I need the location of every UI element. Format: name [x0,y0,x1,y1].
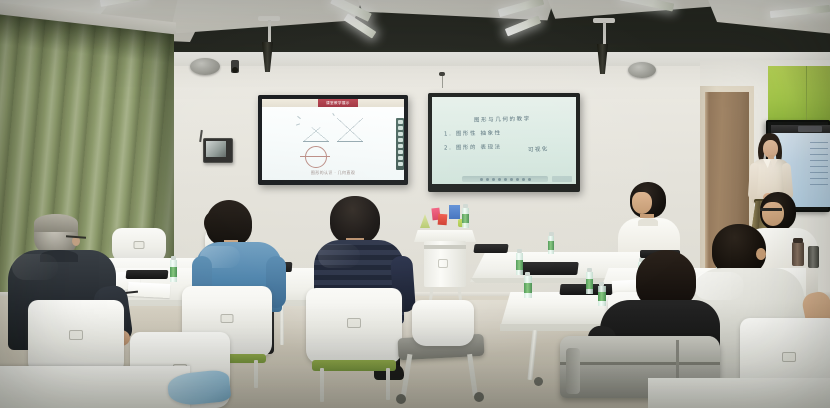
chair[interactable] [28,300,124,376]
whiteboard-tool-icon[interactable] [492,178,495,181]
whiteboard-status-badge [552,176,572,182]
gray-bag-flap [560,336,720,362]
table [648,378,830,408]
classroom-scene: 课堂教学展示 图形的认识 · 几何直观 图形与几何的教学 1. 图形性 抽象性 … [0,0,830,408]
whiteboard-heading: 图形与几何的教学 [474,114,531,123]
chair-seat[interactable] [312,360,396,371]
triangle-figure-base [337,141,363,142]
water-bottle [586,268,593,294]
hanging-microphone-wire [442,74,443,88]
acoustic-panel-shading [768,66,830,122]
whiteboard-side-note: 可视化 [528,144,549,153]
table [0,366,190,408]
water-bottle [598,282,606,306]
chair-logo-badge [134,241,145,249]
whiteboard-tool-icon[interactable] [516,178,519,181]
hanging-microphone-icon [439,72,445,76]
whiteboard-tool-icon[interactable] [522,178,525,181]
bottle-label [170,267,177,277]
bottle-label [598,292,606,301]
triangle-figure-icon [337,118,363,142]
caster-wheel [396,394,406,404]
water-bottle [524,272,532,298]
control-panel-screen[interactable] [206,141,226,157]
lectern-badge [438,259,448,268]
chair-leg [254,360,258,388]
circle-figure-icon [305,146,327,168]
bottle-label [516,260,523,270]
slide-banner: 课堂教学展示 [318,99,358,107]
wall-camera-icon [231,60,239,73]
chair-leg [320,368,324,402]
av-equipment [473,244,508,253]
whiteboard-ink-layer: 图形与几何的教学 1. 图形性 抽象性 2. 图形的 表现法 可视化 [432,97,576,184]
participant-head [330,196,380,244]
whiteboard-tool-icon[interactable] [498,178,501,181]
chair-logo-badge [782,352,796,362]
participant-shoulder-highlight [318,244,360,268]
ceiling-mount-rod [268,20,271,44]
whiteboard-line-1: 1. 图形性 抽象性 [444,128,502,137]
thermos-cup [792,242,804,266]
chair-leg [386,368,390,400]
chair-logo-badge [347,318,361,328]
side-monitor-content-lines [810,142,828,198]
whiteboard-tool-icon[interactable] [480,178,483,181]
bottle-label [548,241,554,249]
av-equipment [126,270,169,279]
slide-banner-text: 课堂教学展示 [326,100,350,106]
toolbar-button-icon[interactable] [398,120,403,124]
participant-shoulder-highlight [12,254,58,280]
chair[interactable] [412,300,474,346]
whiteboard-tool-icon[interactable] [528,178,531,181]
side-monitor-tab[interactable] [798,126,822,132]
water-bottle [516,249,523,275]
sticky-card [449,205,460,219]
participant-hair [34,214,78,232]
whiteboard-toolbar[interactable] [462,176,548,182]
water-bottle [170,256,177,282]
participant-face [762,202,784,226]
toolbar-button-icon[interactable] [398,126,403,130]
bottle-label [524,283,532,293]
participant-face [632,192,652,214]
glasses-icon [760,208,782,211]
ceiling-speaker-icon [190,58,220,75]
water-bottle [548,232,554,254]
whiteboard-line-2: 2. 图形的 表现法 [444,142,502,151]
lectern-shelf [424,245,466,249]
gray-bag-zipper [560,362,720,365]
chair-logo-badge [69,330,83,340]
caster-wheel [474,392,484,402]
thermos-lid [793,238,803,243]
whiteboard-tool-icon[interactable] [510,178,513,181]
participant-ear [756,248,766,260]
whiteboard-tool-icon[interactable] [486,178,489,181]
whiteboard-tool-icon[interactable] [504,178,507,181]
gray-bag-strap [566,348,580,394]
participant-collar [638,218,658,226]
bottle-label [462,214,469,223]
thermos-cup [808,246,819,268]
sticky-card [438,214,448,226]
circle-diameter-line [300,156,330,157]
chair-logo-badge [221,314,234,323]
triangle-figure-base [303,141,329,142]
ceiling-mount-rod [603,22,606,46]
ceiling-speaker-icon [628,62,656,78]
chair[interactable] [306,288,402,364]
caster-wheel [534,377,543,386]
water-bottle [462,204,469,228]
participant-shoulder-highlight [694,272,744,300]
bottle-label [586,279,593,289]
